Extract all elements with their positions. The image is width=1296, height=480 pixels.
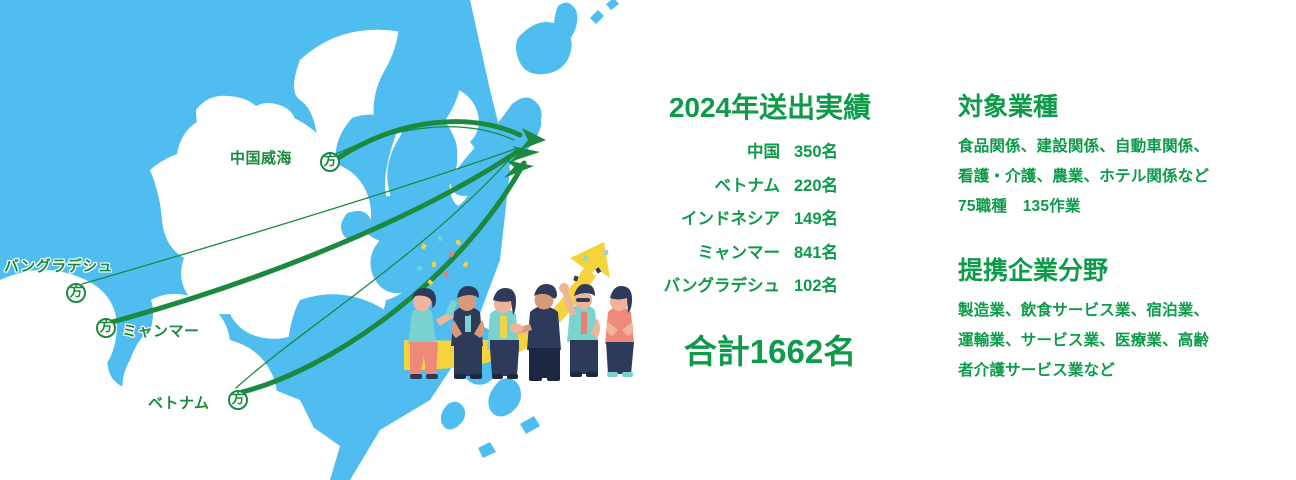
- map-label-vietnam: ベトナム: [148, 392, 210, 413]
- business-people-illustration: [398, 228, 650, 388]
- row-country: ミャンマー: [620, 237, 794, 270]
- table-row: 中国 350名: [620, 136, 920, 169]
- industries-title: 対象業種: [958, 92, 1288, 122]
- person-2: [451, 286, 485, 379]
- table-row: ミャンマー 841名: [620, 237, 920, 270]
- table-row: バングラデシュ 102名: [620, 270, 920, 303]
- row-country: インドネシア: [620, 203, 794, 236]
- table-row: ベトナム 220名: [620, 170, 920, 203]
- partners-line: 運輸業、サービス業、医療業、高齢: [958, 326, 1288, 356]
- section-divider: [958, 222, 1288, 256]
- industries-line: 食品関係、建設関係、自動車関係、: [958, 132, 1288, 162]
- row-count: 350名: [794, 136, 920, 169]
- partners-title: 提携企業分野: [958, 256, 1288, 286]
- row-country: 中国: [620, 136, 794, 169]
- row-count: 102名: [794, 270, 920, 303]
- industries-line: 看護・介護、農業、ホテル関係など: [958, 162, 1288, 192]
- row-country: ベトナム: [620, 170, 794, 203]
- map-marker-bangladesh[interactable]: 方: [66, 283, 86, 303]
- illustration-svg: [398, 228, 650, 388]
- map-marker-myanmar[interactable]: 方: [96, 318, 116, 338]
- row-country: バングラデシュ: [620, 270, 794, 303]
- stats-table: 中国 350名 ベトナム 220名 インドネシア 149名 ミャンマー 841名…: [620, 136, 920, 303]
- industries-line: 75職種 135作業: [958, 192, 1288, 222]
- stats-total: 合計1662名: [620, 325, 920, 373]
- map-marker-vietnam[interactable]: 方: [228, 390, 248, 410]
- stats-column: 2024年送出実績 中国 350名 ベトナム 220名 インドネシア 149名 …: [620, 92, 920, 373]
- infographic-root: 中国威海 方 バングラデシュ 方 ミャンマー 方 ベトナム 方: [0, 0, 1296, 480]
- row-count: 841名: [794, 237, 920, 270]
- person-3: [487, 288, 534, 379]
- partners-line: 者介護サービス業など: [958, 356, 1288, 386]
- right-column: 対象業種 食品関係、建設関係、自動車関係、 看護・介護、農業、ホテル関係など 7…: [958, 92, 1288, 386]
- map-label-china: 中国威海: [230, 147, 292, 168]
- partners-section: 提携企業分野 製造業、飲食サービス業、宿泊業、 運輸業、サービス業、医療業、高齢…: [958, 256, 1288, 386]
- partners-body: 製造業、飲食サービス業、宿泊業、 運輸業、サービス業、医療業、高齢 者介護サービ…: [958, 296, 1288, 386]
- table-row: インドネシア 149名: [620, 203, 920, 236]
- map-marker-china[interactable]: 方: [320, 152, 340, 172]
- row-count: 149名: [794, 203, 920, 236]
- row-count: 220名: [794, 170, 920, 203]
- stats-title: 2024年送出実績: [620, 92, 920, 124]
- person-5: [559, 283, 600, 377]
- partners-line: 製造業、飲食サービス業、宿泊業、: [958, 296, 1288, 326]
- map-label-bangladesh: バングラデシュ: [4, 255, 113, 276]
- industries-body: 食品関係、建設関係、自動車関係、 看護・介護、農業、ホテル関係など 75職種 1…: [958, 132, 1288, 222]
- industries-section: 対象業種 食品関係、建設関係、自動車関係、 看護・介護、農業、ホテル関係など 7…: [958, 92, 1288, 222]
- map-label-myanmar: ミャンマー: [122, 320, 200, 341]
